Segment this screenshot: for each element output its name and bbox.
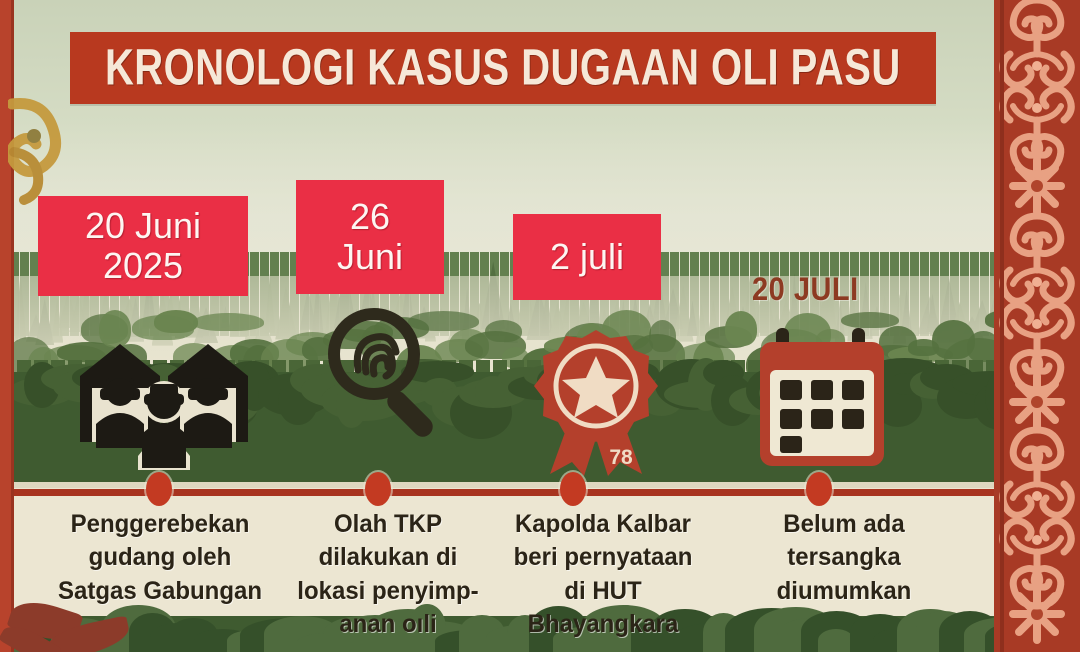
caption-line: Satgas Gabungan [41, 575, 279, 608]
right-border-rule [1000, 0, 1004, 652]
timeline-dot-4 [806, 472, 832, 506]
caption-line: Belum ada [748, 508, 940, 541]
date-line-1: 20 Juni [85, 205, 201, 246]
timeline-caption-3: Kapolda Kalbar beri pernyataan di HUT Bh… [487, 508, 719, 641]
warehouse-raid-icon [72, 330, 256, 470]
right-border-ornament [994, 0, 1080, 652]
corner-ornament-icon [8, 96, 70, 206]
timeline-caption-4: Belum ada tersangka diumumkan [748, 508, 940, 608]
date-chip-1: 20 Juni 2025 [38, 196, 248, 296]
award-rosette-icon: 78 [528, 328, 664, 480]
timeline-caption-1: Penggerebekan gudang oleh Satgas Gabunga… [41, 508, 279, 608]
title-banner: KRONOLOGI KASUS DUGAAN OLI PASU [70, 32, 936, 104]
caption-line: diumumkan [748, 575, 940, 608]
caption-line: Penggerebekan [41, 508, 279, 541]
magnifier-fingerprint-icon [316, 300, 456, 442]
date-line-1: 26 [350, 196, 390, 237]
timeline-dot-3 [560, 472, 586, 506]
date-line-2: Juni [337, 236, 403, 277]
caption-line: gudang oleh [41, 541, 279, 574]
caption-line: beri pernyataan [487, 541, 719, 574]
caption-line: Kapolda Kalbar [487, 508, 719, 541]
calendar-icon [752, 324, 892, 472]
date-line-1: 2 juli [550, 237, 624, 277]
infographic-poster: KRONOLOGI KASUS DUGAAN OLI PASU 20 Juni … [0, 0, 1080, 652]
caption-line: di HUT Bhayangkara [487, 575, 719, 642]
page-title: KRONOLOGI KASUS DUGAAN OLI PASU [105, 39, 901, 97]
timeline-caption-2: Olah TKP dilakukan di lokasi penyimp- an… [284, 508, 491, 641]
date-line-2: 2025 [103, 245, 183, 286]
timeline-dot-1 [146, 472, 172, 506]
caption-line: lokasi penyimp- [284, 575, 491, 608]
date-chip-2: 26 Juni [296, 180, 444, 294]
caption-line: dilakukan di [284, 541, 491, 574]
dayak-scroll-pattern-icon [994, 0, 1080, 652]
date-label-4: 20 JULI [752, 272, 859, 309]
caption-line: anan oıli [284, 608, 491, 641]
timeline-dot-2 [365, 472, 391, 506]
award-badge-number: 78 [609, 446, 633, 469]
date-chip-3: 2 juli [513, 214, 661, 300]
caption-line: tersangka [748, 541, 940, 574]
caption-line: Olah TKP [284, 508, 491, 541]
